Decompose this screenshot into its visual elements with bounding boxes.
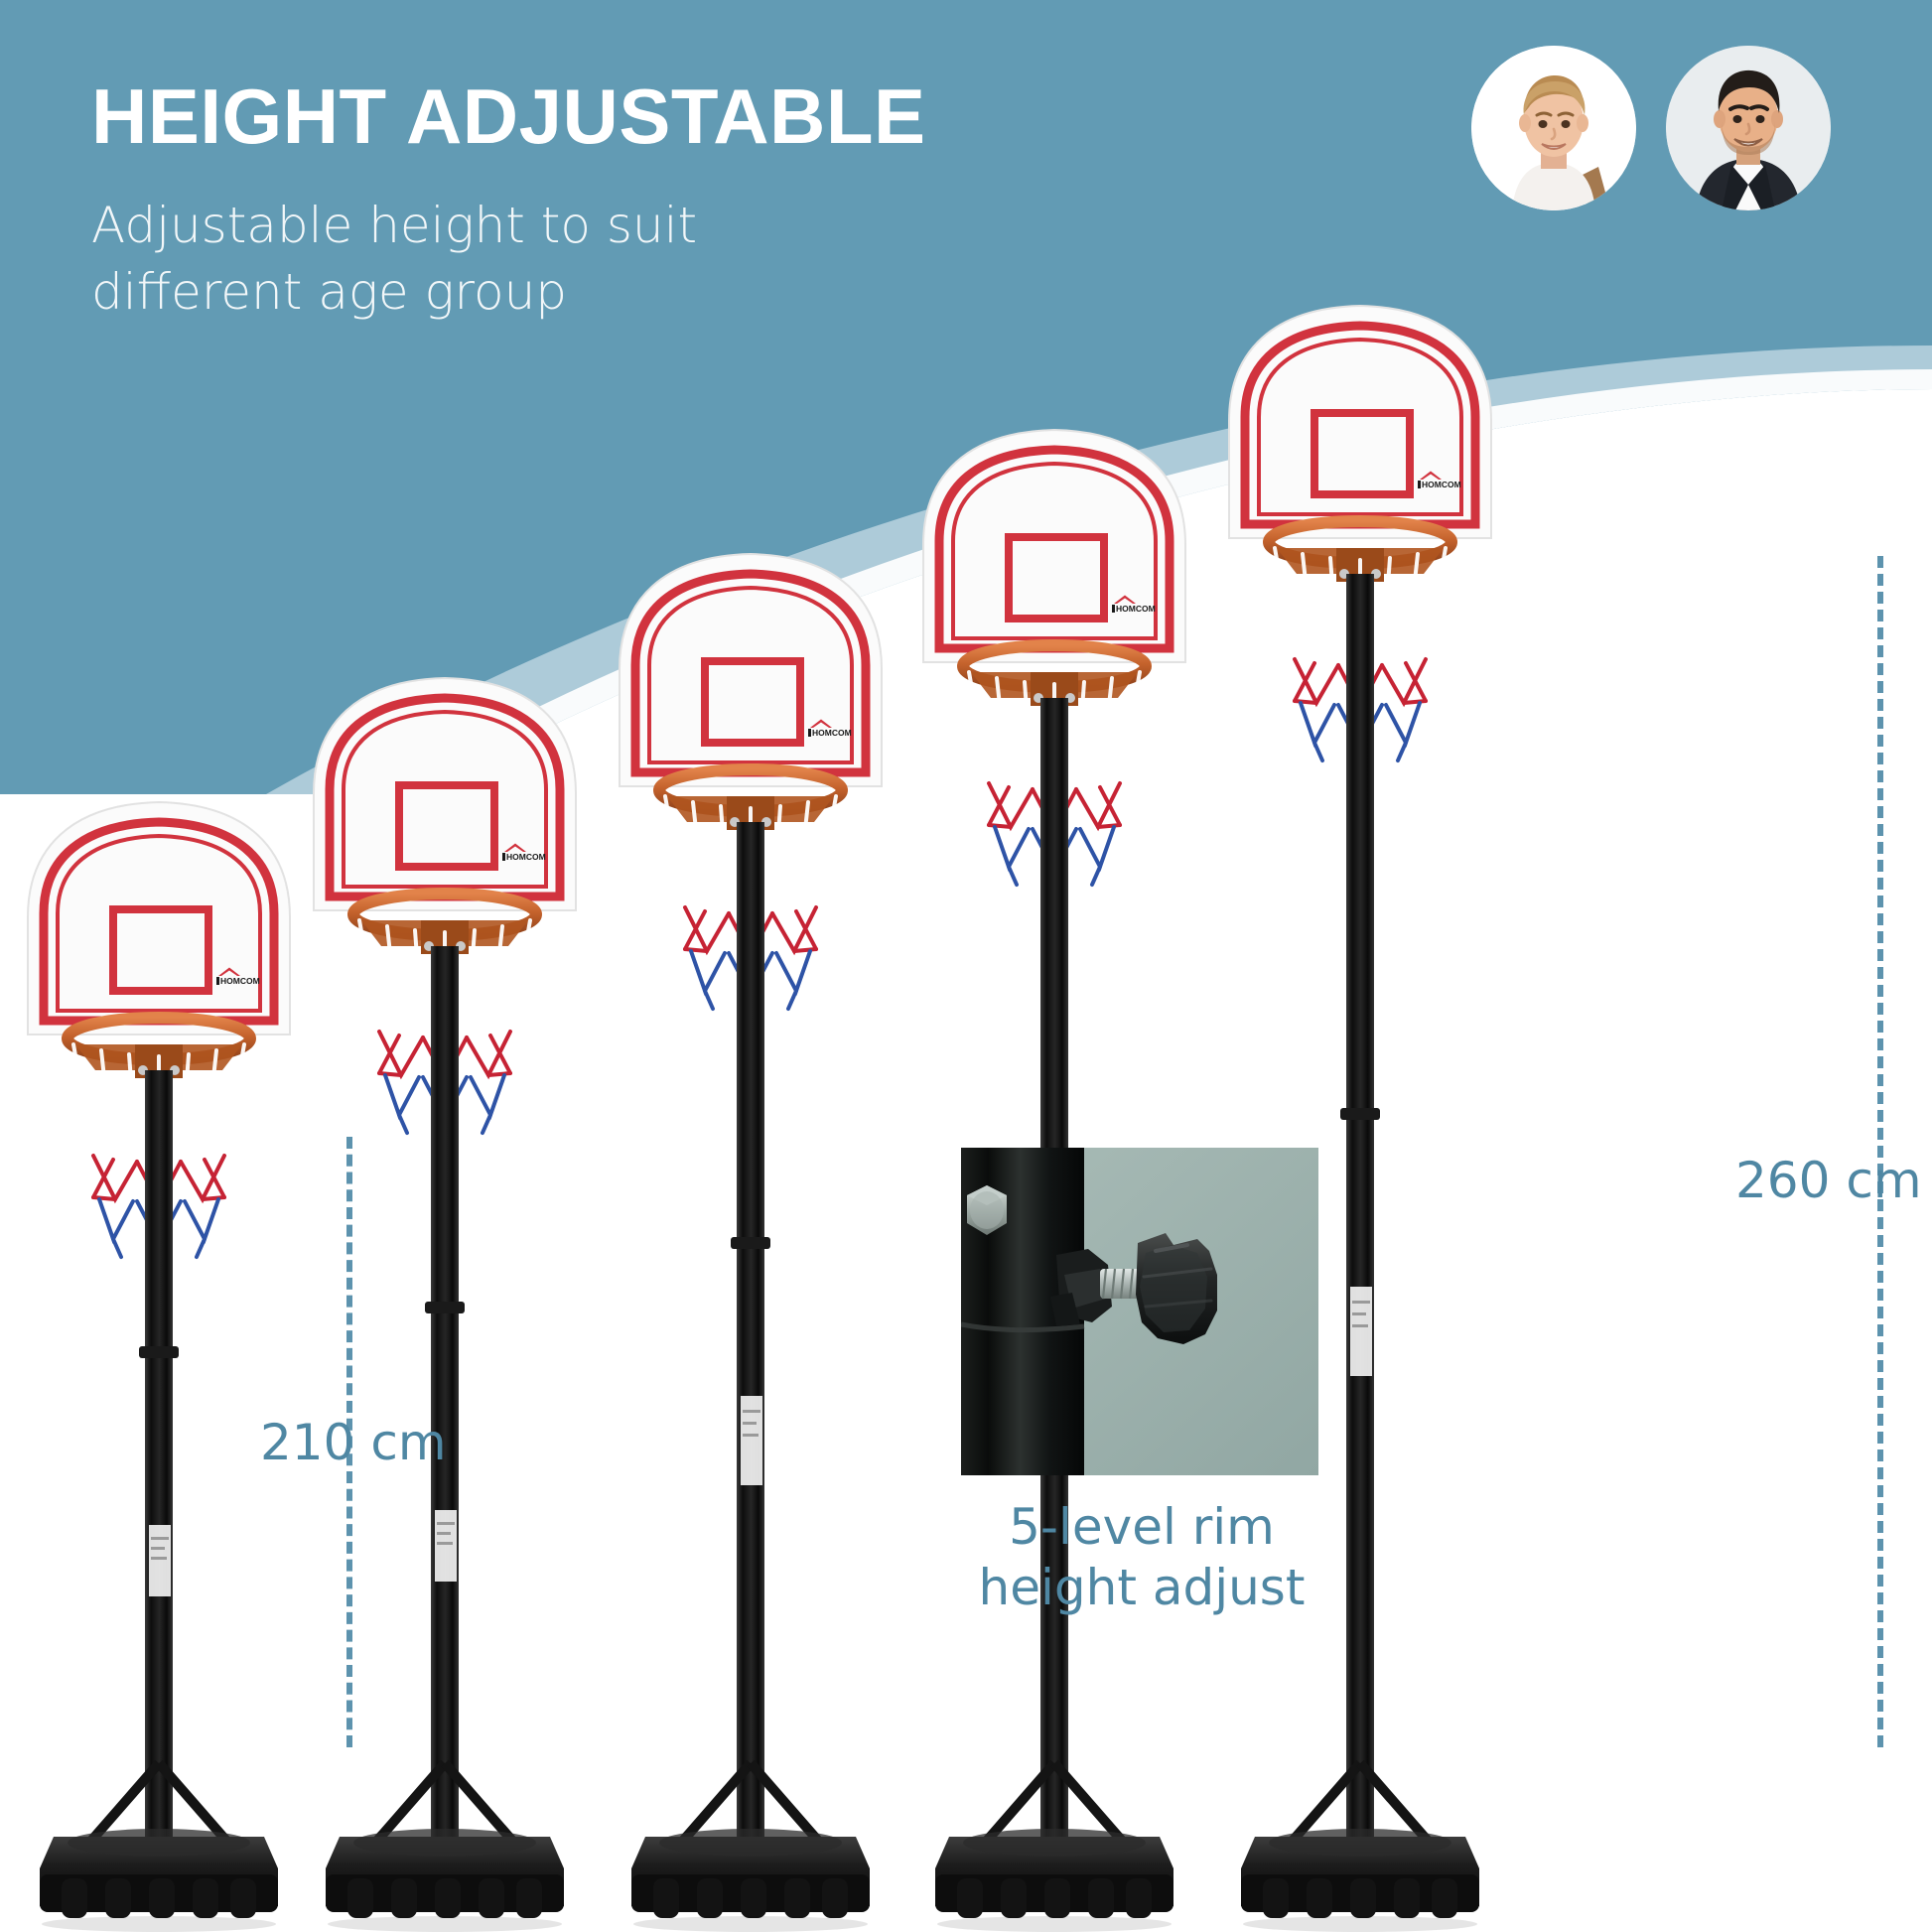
pole-3: [737, 822, 764, 1857]
backboard-5: HOMCOM: [1229, 306, 1491, 538]
adjustment-knob: [1136, 1233, 1217, 1344]
backboard-1: HOMCOM: [28, 802, 290, 1035]
base-3: [631, 1829, 870, 1932]
backboard-2: HOMCOM: [314, 678, 576, 910]
base-2: [326, 1829, 564, 1932]
callout-caption-line-2: height adjust: [979, 1559, 1306, 1616]
svg-text:HOMCOM: HOMCOM: [812, 728, 852, 738]
backboard-3: HOMCOM: [620, 554, 882, 786]
min-height-label: 210 cm: [260, 1414, 447, 1471]
svg-text:HOMCOM: HOMCOM: [220, 976, 260, 986]
base-5: [1241, 1829, 1479, 1932]
pole-2: [431, 946, 459, 1857]
svg-text:HOMCOM: HOMCOM: [1116, 604, 1156, 614]
adjustment-knob-photo: [961, 1148, 1318, 1475]
callout-caption-line-1: 5-level rim: [1009, 1498, 1275, 1556]
svg-text:HOMCOM: HOMCOM: [506, 852, 546, 862]
svg-text:HOMCOM: HOMCOM: [1422, 480, 1461, 489]
pole-5: [1346, 574, 1374, 1857]
backboard-4: HOMCOM: [923, 430, 1185, 662]
hoop-lineup: HOMCOM: [0, 0, 1932, 1932]
pole-1: [145, 1070, 173, 1857]
infographic-page: HEIGHT ADJUSTABLE Adjustable height to s…: [0, 0, 1932, 1932]
callout-caption: 5-level rim height adjust: [874, 1497, 1410, 1618]
max-height-label: 260 cm: [1735, 1152, 1922, 1209]
hoop-stand-5: HOMCOM: [1211, 294, 1588, 1932]
base-1: [40, 1829, 278, 1932]
base-4: [935, 1829, 1173, 1932]
